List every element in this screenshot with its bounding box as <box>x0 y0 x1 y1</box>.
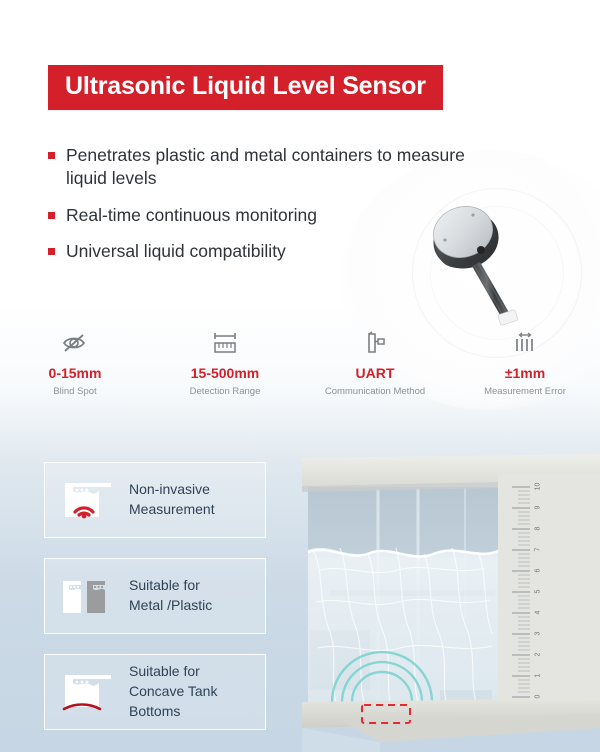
feature-card-concave-tank[interactable]: Suitable for Concave Tank Bottoms <box>44 654 266 730</box>
spec-value: 15-500mm <box>150 365 300 381</box>
feature-card-metal-plastic[interactable]: Suitable for Metal /Plastic <box>44 558 266 634</box>
spec-label: Measurement Error <box>450 386 600 397</box>
feature-card-line1: Suitable for <box>129 576 212 596</box>
feature-card-text: Suitable for Concave Tank Bottoms <box>121 662 217 722</box>
page-title: Ultrasonic Liquid Level Sensor <box>65 74 426 99</box>
bullet-text: Real-time continuous monitoring <box>66 204 317 227</box>
feature-card-text: Non-invasive Measurement <box>121 480 215 520</box>
feature-card-line3: Bottoms <box>129 702 217 722</box>
feature-card-line2: Concave Tank <box>129 682 217 702</box>
spec-label: Detection Range <box>150 386 300 397</box>
metal-plastic-containers-icon <box>55 571 121 621</box>
bullet-text: Universal liquid compatibility <box>66 240 286 263</box>
spec-item-blind-spot: 0-15mm Blind Spot <box>0 328 150 397</box>
poster-page: Ultrasonic Liquid Level Sensor Penetrate… <box>0 0 600 752</box>
bullet-square-icon <box>48 212 55 219</box>
feature-card-line1: Non-invasive <box>129 480 215 500</box>
spec-value: 0-15mm <box>0 365 150 381</box>
ruler-icon <box>150 328 300 358</box>
feature-card-line1: Suitable for <box>129 662 217 682</box>
spec-value: UART <box>300 365 450 381</box>
tank-signal-icon <box>55 475 121 525</box>
feature-card-text: Suitable for Metal /Plastic <box>121 576 212 616</box>
feature-card-list: Non-invasive Measurement Suitable for <box>44 462 266 750</box>
concave-tank-icon <box>55 667 121 717</box>
bullet-text: Penetrates plastic and metal containers … <box>66 144 468 191</box>
feature-card-line2: Metal /Plastic <box>129 596 212 616</box>
spec-value: ±1mm <box>450 365 600 381</box>
feature-card-non-invasive[interactable]: Non-invasive Measurement <box>44 462 266 538</box>
spec-label: Communication Method <box>300 386 450 397</box>
eye-off-icon <box>0 328 150 358</box>
tank-photo: 10 9 8 7 6 5 4 3 2 1 0 <box>300 452 600 752</box>
bullet-item: Penetrates plastic and metal containers … <box>48 144 468 191</box>
title-banner: Ultrasonic Liquid Level Sensor <box>48 65 443 110</box>
feature-card-line2: Measurement <box>129 500 215 520</box>
feature-bullet-list: Penetrates plastic and metal containers … <box>48 144 468 276</box>
bullet-square-icon <box>48 248 55 255</box>
uart-connector-icon <box>300 328 450 358</box>
bullet-square-icon <box>48 152 55 159</box>
bullet-item: Real-time continuous monitoring <box>48 204 468 227</box>
product-image-ultrasonic-sensor <box>421 192 566 332</box>
spec-label: Blind Spot <box>0 386 150 397</box>
bullet-item: Universal liquid compatibility <box>48 240 468 263</box>
spec-item-measurement-error: ±1mm Measurement Error <box>450 328 600 397</box>
spec-item-detection-range: 15-500mm Detection Range <box>150 328 300 397</box>
spec-item-communication: UART Communication Method <box>300 328 450 397</box>
measurement-error-icon <box>450 328 600 358</box>
spec-strip: 0-15mm Blind Spot 15-500mm Detection Ran… <box>0 328 600 397</box>
